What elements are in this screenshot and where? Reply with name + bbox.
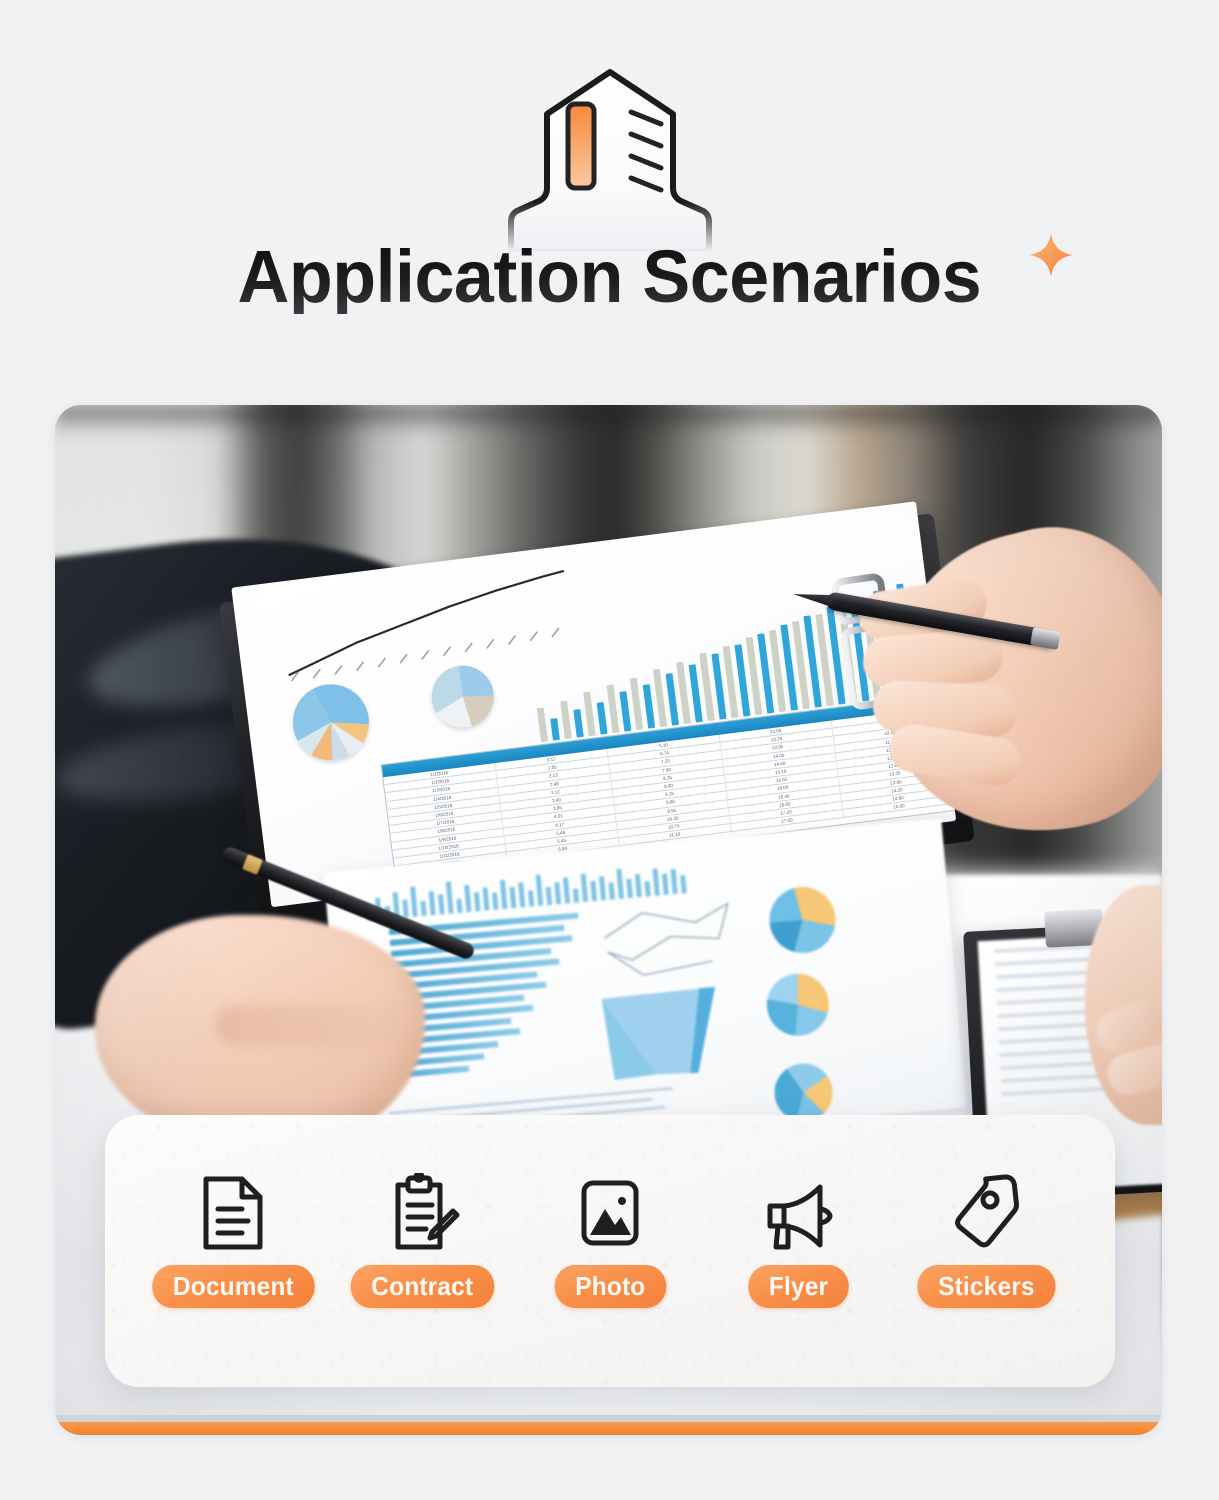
left-hand-with-pen <box>95 875 465 1155</box>
desk-paper-pie-chart-1 <box>767 884 839 956</box>
document-icon <box>198 1175 270 1253</box>
scenario-label-stickers: Stickers <box>917 1265 1055 1308</box>
scenario-item-flyer[interactable]: Flyer <box>706 1175 891 1308</box>
scenario-item-document[interactable]: Document <box>141 1175 326 1308</box>
scenario-label-flyer: Flyer <box>748 1265 849 1308</box>
bottom-right-hand <box>1085 885 1162 1145</box>
scenario-badge-row: Document Contract <box>105 1175 1115 1308</box>
megaphone-icon <box>758 1175 838 1253</box>
ceiling-shadow <box>55 405 1162 435</box>
page-title: Application Scenarios <box>238 240 982 314</box>
tag-icon <box>949 1175 1025 1253</box>
scenario-label-photo: Photo <box>554 1265 666 1308</box>
desk-line-diagram <box>598 896 754 989</box>
scenario-label-document: Document <box>152 1265 314 1308</box>
desk-funnel-chart <box>595 976 753 1089</box>
building-tower-icon <box>495 62 725 252</box>
sparkle-star-icon <box>1028 232 1074 278</box>
photo-icon <box>574 1175 646 1253</box>
header: Application Scenarios <box>0 0 1219 390</box>
clipboard-pie-chart-1 <box>288 680 373 765</box>
right-hand-with-pen <box>855 493 1162 853</box>
knuckle-shading <box>215 1005 405 1045</box>
scenario-card: Document Contract <box>105 1115 1115 1387</box>
scenario-item-photo[interactable]: Photo <box>518 1175 703 1308</box>
scenario-item-stickers[interactable]: Stickers <box>894 1175 1079 1308</box>
clipboard-pie-chart-2 <box>428 662 497 731</box>
scenario-label-contract: Contract <box>350 1265 493 1308</box>
contract-icon <box>384 1175 460 1253</box>
desk-paper-pie-chart-2 <box>764 971 831 1038</box>
finger <box>861 628 1004 690</box>
scenario-item-contract[interactable]: Contract <box>329 1175 514 1308</box>
page-root: Application Scenarios <box>0 0 1219 1500</box>
